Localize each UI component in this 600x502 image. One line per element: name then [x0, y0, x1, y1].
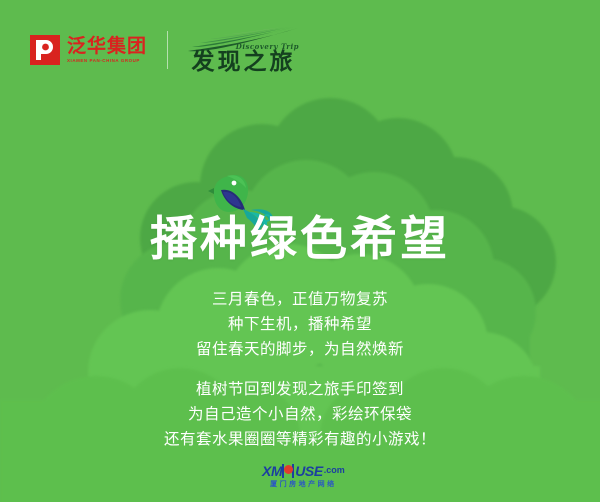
watermark-h-dot-icon	[282, 463, 295, 478]
discovery-trip-en: Discovery Trip	[236, 42, 299, 51]
paragraph-2-line-2: 为自己造个小自然，彩绘环保袋	[0, 402, 600, 427]
paragraph-1-line-2: 种下生机，播种希望	[0, 312, 600, 337]
peacock-bird-illustration	[203, 166, 283, 232]
pan-china-logo-cn: 泛华集团	[67, 37, 147, 56]
watermark-use: USE	[295, 464, 323, 478]
watermark-cn: 厦门房地产网络	[262, 481, 345, 488]
watermark-com: .com	[324, 466, 345, 475]
watermark-logo-row: XM USE .com	[262, 463, 345, 478]
canopy-layer-mid	[120, 160, 536, 496]
pan-china-p-mark-icon	[30, 35, 60, 65]
pan-china-logo[interactable]: 泛华集团 XIAMEN PAN-CHINA GROUP	[30, 35, 147, 65]
paragraph-2-line-3: 还有套水果圈圈等精彩有趣的小游戏！	[0, 427, 600, 452]
discovery-trip-logo[interactable]: Discovery Trip 发现之旅	[186, 27, 301, 73]
poster-canvas: 泛华集团 XIAMEN PAN-CHINA GROUP Discovery Tr…	[0, 0, 600, 502]
watermark: XM USE .com 厦门房地产网络	[262, 463, 345, 488]
paragraph-2-line-1: 植树节回到发现之旅手印签到	[0, 377, 600, 402]
paragraph-1-line-3: 留住春天的脚步，为自然焕新	[0, 337, 600, 362]
p-glyph-icon	[35, 39, 55, 61]
poster-paragraph-2: 植树节回到发现之旅手印签到 为自己造个小自然，彩绘环保袋 还有套水果圈圈等精彩有…	[0, 377, 600, 452]
poster-paragraph-1: 三月春色，正值万物复苏 种下生机，播种希望 留住春天的脚步，为自然焕新	[0, 287, 600, 362]
logo-divider	[167, 31, 168, 69]
paragraph-1-line-1: 三月春色，正值万物复苏	[0, 287, 600, 312]
watermark-xm: XM	[262, 464, 282, 478]
pan-china-logo-en: XIAMEN PAN-CHINA GROUP	[67, 59, 147, 63]
header-logos: 泛华集团 XIAMEN PAN-CHINA GROUP Discovery Tr…	[0, 0, 600, 100]
canopy-layer-back	[140, 98, 556, 480]
poster-title: 播种绿色希望	[0, 216, 600, 263]
discovery-trip-cn: 发现之旅	[192, 50, 296, 73]
